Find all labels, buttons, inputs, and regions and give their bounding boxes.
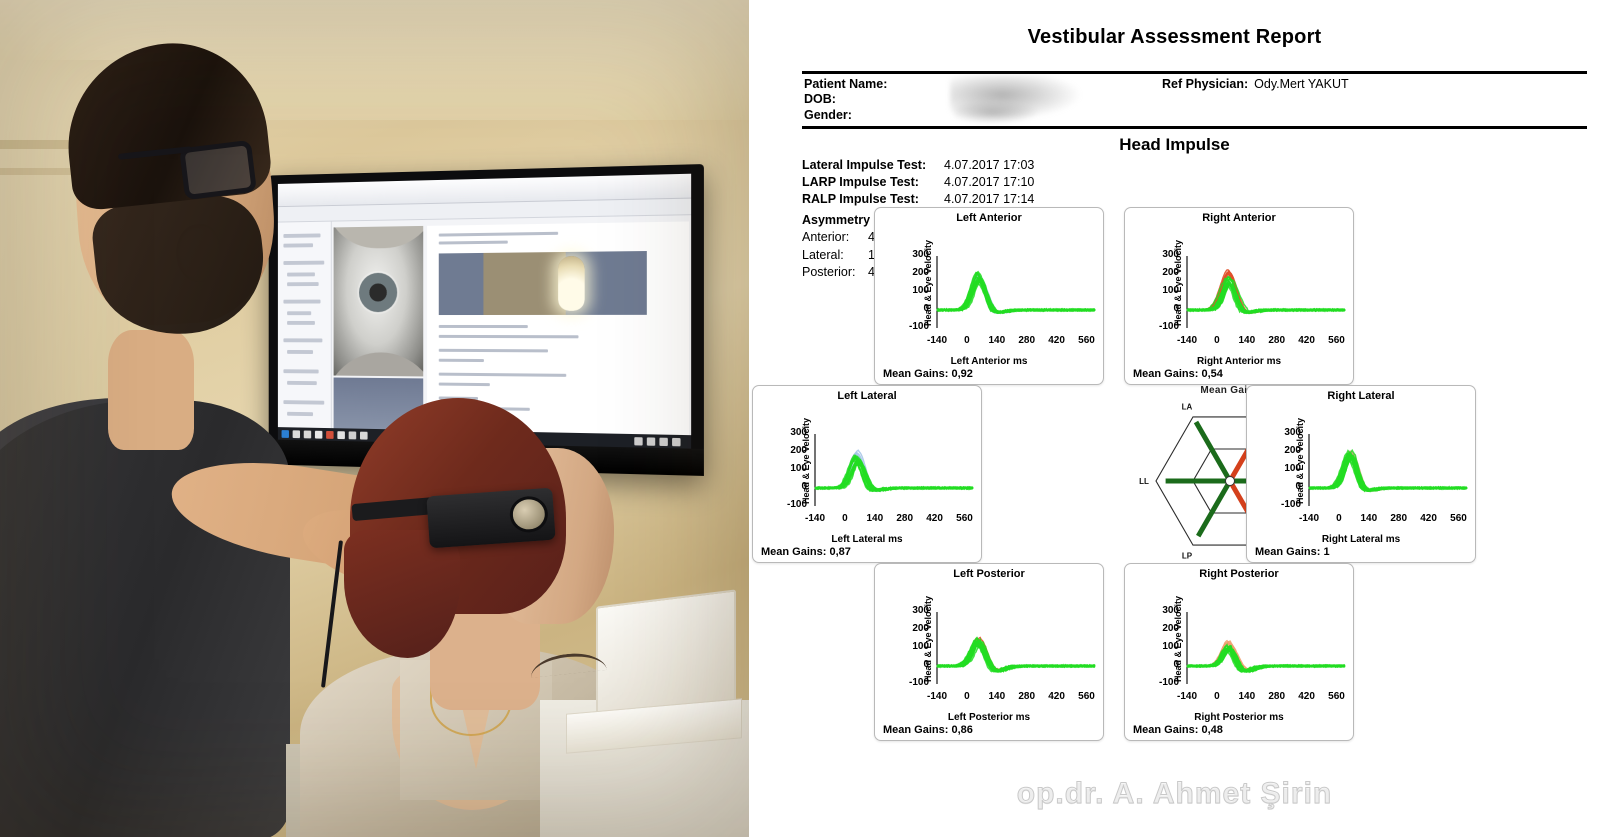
test-value: 4.07.2017 17:10 [930,174,1034,191]
asymmetry-label: Lateral: [802,247,868,265]
eye-camera-image [334,226,424,377]
impulse-chart-panel: Right Lateral Head & Eye Velocity 300200… [1246,385,1476,563]
x-axis-label: Right Posterior ms [1125,712,1353,723]
page-title: Vestibular Assessment Report [752,0,1597,49]
clinical-photo [0,0,752,837]
chart-traces [1253,402,1483,520]
mean-gain-label: Mean Gains: 0,87 [753,545,981,558]
svg-text:LA: LA [1182,403,1193,412]
chart-title: Right Lateral [1247,390,1475,402]
svg-text:LP: LP [1182,552,1193,561]
chart-title: Left Lateral [753,390,981,402]
patient-header-block: Patient Name: DOB: Gender: Ref Physician… [802,71,1587,129]
x-axis-label: Right Anterior ms [1125,356,1353,367]
redacted-patient-identity-2 [954,100,1040,124]
eyelid-upper [334,226,424,249]
mean-gain-label: Mean Gains: 1 [1247,545,1475,558]
x-axis-label: Left Posterior ms [875,712,1103,723]
test-label: LARP Impulse Test: [802,174,930,191]
test-value: 4.07.2017 17:03 [930,157,1034,174]
ref-physician-label: Ref Physician: [1162,77,1248,91]
chart-plot-area: Head & Eye Velocity 3002001000-100-14001… [759,402,975,520]
clinician-neck [108,330,194,450]
chart-traces [881,224,1111,342]
dob-label: DOB: [804,92,1587,108]
test-row: RALP Impulse Test: 4.07.2017 17:14 [802,191,1122,208]
impulse-chart-panel: Left Posterior Head & Eye Velocity 30020… [874,563,1104,741]
iris [359,273,397,312]
header-rule-bottom [802,126,1587,129]
vhit-goggles [426,488,555,549]
impulse-chart-panel: Left Anterior Head & Eye Velocity 300200… [874,207,1104,385]
chart-plot-area: Head & Eye Velocity 3002001000-100-14001… [881,224,1097,342]
watermark: op.dr. A. Ahmet Şirin [752,777,1597,811]
mean-gain-label: Mean Gains: 0,92 [875,367,1103,380]
test-label: RALP Impulse Test: [802,191,930,208]
chart-plot-area: Head & Eye Velocity 3002001000-100-14001… [881,580,1097,698]
impulse-chart-panel: Left Lateral Head & Eye Velocity 3002001… [752,385,982,563]
asymmetry-label: Anterior: [802,229,868,247]
chart-title: Left Posterior [875,568,1103,580]
chart-traces [881,580,1111,698]
test-row: Lateral Impulse Test: 4.07.2017 17:03 [802,157,1122,174]
goggles-lens [509,495,549,534]
ref-physician: Ref Physician:Ody.Mert YAKUT [1162,77,1349,91]
chart-plot-area: Head & Eye Velocity 3002001000-100-14001… [1131,224,1347,342]
light-bulb [558,256,585,311]
table-leg [286,744,300,837]
asymmetry-label: Posterior: [802,264,868,282]
svg-text:LL: LL [1139,477,1149,486]
x-axis-label: Left Lateral ms [753,534,981,545]
ref-physician-value: Ody.Mert YAKUT [1248,77,1348,91]
section-title: Head Impulse [752,135,1597,155]
software-sidebar [278,222,332,442]
mean-gain-label: Mean Gains: 0,48 [1125,723,1353,736]
chart-title: Right Posterior [1125,568,1353,580]
chart-plot-area: Head & Eye Velocity 3002001000-100-14001… [1253,402,1469,520]
mean-gain-label: Mean Gains: 0,86 [875,723,1103,736]
chart-traces [1131,224,1361,342]
eyelid-lower [334,352,424,376]
screenshot-root: Vestibular Assessment Report Patient Nam… [0,0,1600,837]
chart-traces [759,402,989,520]
impulse-chart-panel: Right Anterior Head & Eye Velocity 30020… [1124,207,1354,385]
vestibular-assessment-report: Vestibular Assessment Report Patient Nam… [752,0,1597,837]
impulse-chart-panel: Right Posterior Head & Eye Velocity 3002… [1124,563,1354,741]
calibration-target-image [439,251,647,315]
chart-plot-area: Head & Eye Velocity 3002001000-100-14001… [1131,580,1347,698]
chart-title: Right Anterior [1125,212,1353,224]
test-value: 4.07.2017 17:14 [930,191,1034,208]
patient-fields: Patient Name: DOB: Gender: Ref Physician… [802,74,1587,127]
mean-gain-label: Mean Gains: 0,54 [1125,367,1353,380]
x-axis-label: Right Lateral ms [1247,534,1475,545]
x-axis-label: Left Anterior ms [875,356,1103,367]
test-row: LARP Impulse Test: 4.07.2017 17:10 [802,174,1122,191]
chart-traces [1131,580,1361,698]
gender-label: Gender: [804,108,1587,124]
impulse-chart-grid: Mean Gains LARARLRPLPLL1,00,5 Left Anter… [874,207,1586,752]
test-label: Lateral Impulse Test: [802,157,930,174]
chart-title: Left Anterior [875,212,1103,224]
